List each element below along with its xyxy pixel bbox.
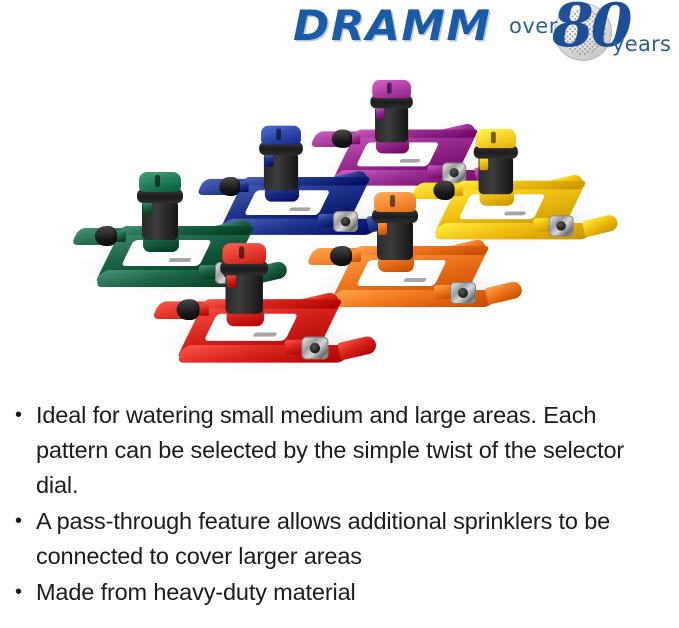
end-cap-knob-icon [177,299,200,320]
dial-slot [239,246,244,258]
dial-slot [155,175,160,187]
chrome-hose-connector-icon [301,337,328,360]
turret-tab [143,202,152,215]
turret-tab [479,158,488,170]
selector-dial-icon [139,172,181,192]
end-cap-knob-icon [95,226,117,246]
selector-dial-icon [374,192,416,212]
deck-marking [253,333,278,337]
dial-slot [387,83,392,94]
dramm-wordmark: DRAMM [293,4,491,48]
selector-dial-icon [372,80,411,98]
connector-bore [310,343,320,353]
chrome-hose-connector-icon [450,282,476,304]
connector-bore [458,288,468,298]
selector-dial-icon [261,126,301,145]
feature-list-section: Ideal for watering small medium and larg… [0,398,679,611]
dial-slot [390,195,395,207]
connector-bore [556,221,566,231]
dial-slot [276,129,281,140]
turret-tab [265,154,274,166]
product-detail-page: { "brand": { "wordmark": "DRAMM", "badge… [0,0,679,628]
dial-slot [491,132,496,144]
turret-tab [376,107,384,119]
badge-over-label: over [509,14,558,38]
selector-turret [220,243,268,322]
selector-turret [137,172,183,248]
turret-tab [227,274,236,288]
list-item: Made from heavy-duty material [36,575,665,610]
feature-list: Ideal for watering small medium and larg… [0,398,679,610]
turret-tab [378,222,387,235]
selector-dial-icon [222,243,266,264]
list-item: A pass-through feature allows additional… [36,504,665,574]
list-item: Ideal for watering small medium and larg… [36,398,665,503]
red-sprinkler [145,241,384,397]
chrome-hose-connector-icon [549,215,574,236]
product-photo [0,52,679,392]
selector-dial-icon [476,129,516,148]
deck-marking [403,278,427,282]
